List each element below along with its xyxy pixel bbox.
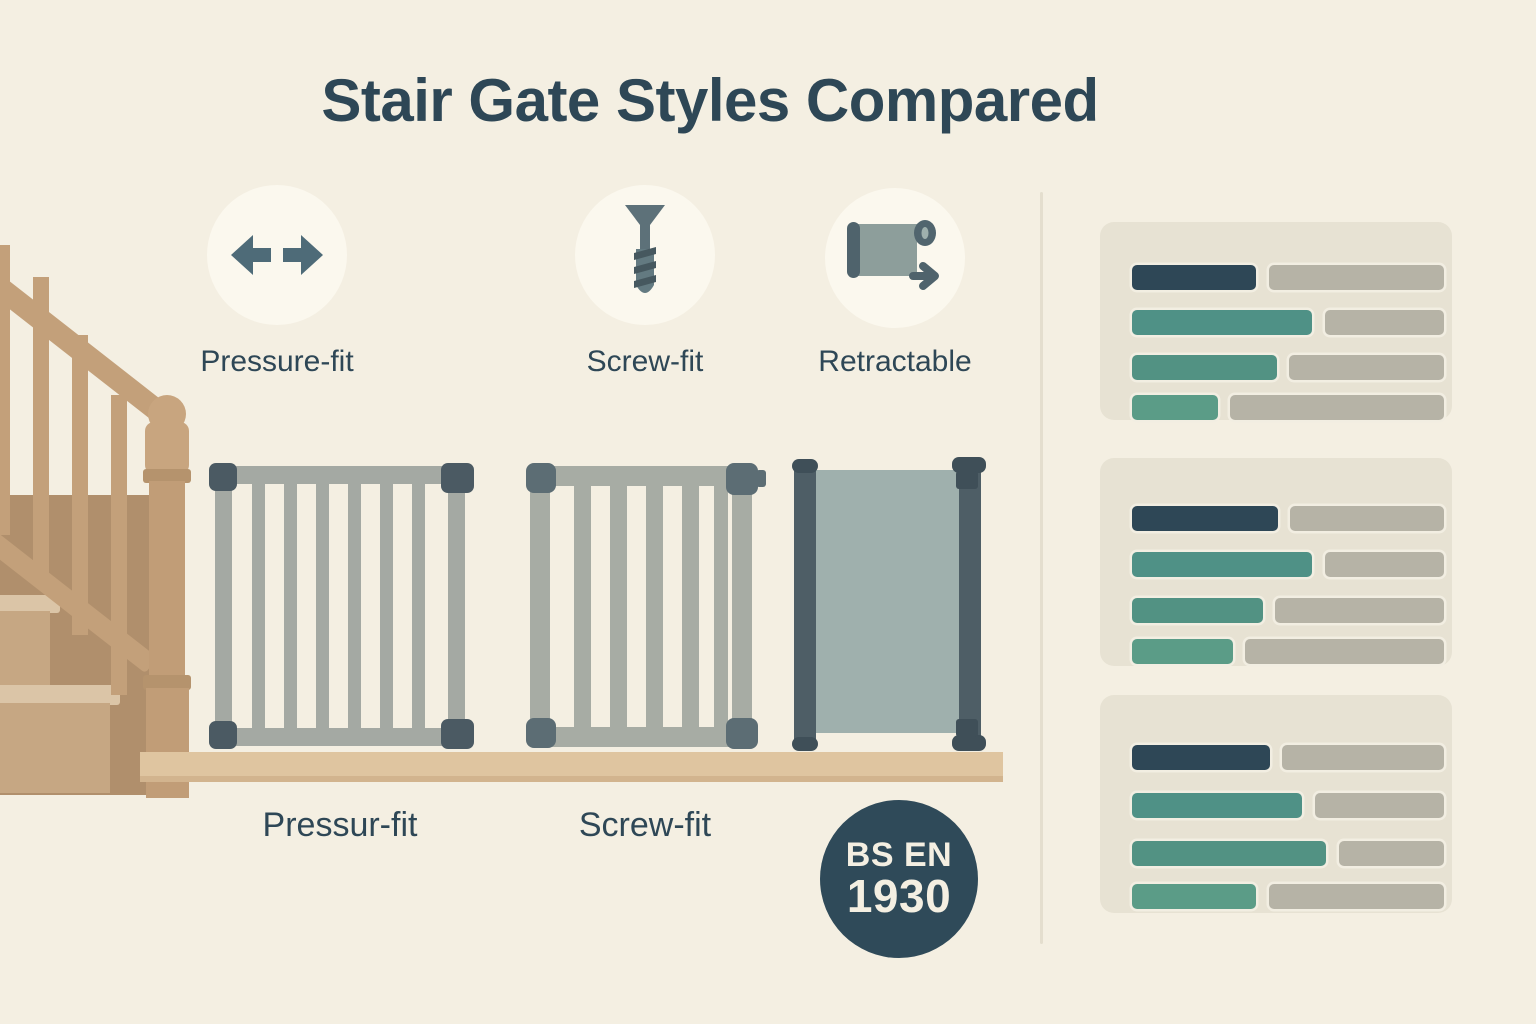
gate-pressure-fit[interactable]: [205, 462, 475, 754]
pressure-pad-top-right: [441, 463, 474, 493]
spec-row: [1132, 639, 1424, 664]
stair-riser: [0, 703, 110, 793]
gate-vertical-bar: [252, 482, 265, 730]
spec-row-key-bar: [1132, 793, 1302, 818]
pressure-pad-bottom-left: [209, 721, 237, 749]
retractable-cap-top-left: [792, 459, 818, 473]
gate-vertical-bar: [714, 484, 728, 729]
wall-bracket-top-right: [726, 463, 758, 495]
spec-row: [1132, 884, 1424, 909]
wall-bracket-bottom-left: [526, 718, 556, 748]
spec-row-value-bar: [1269, 884, 1444, 909]
section-divider: [1040, 192, 1043, 944]
gate-vertical-bar: [380, 482, 393, 730]
spec-row-value-bar: [1269, 265, 1444, 290]
gate-right-stile: [732, 466, 752, 747]
gate-latch-nub[interactable]: [756, 470, 766, 487]
page-title: Stair Gate Styles Compared: [0, 66, 1420, 135]
badge-standard-number: 1930: [847, 872, 951, 920]
gate-right-stile: [448, 466, 465, 746]
spec-row-key-bar: [1132, 552, 1312, 577]
spec-row-key-bar: [1132, 395, 1218, 420]
stair-baluster: [72, 335, 88, 635]
gate-vertical-bar: [412, 482, 425, 730]
gate-left-stile: [215, 466, 232, 746]
retractable-post-right: [959, 463, 981, 747]
screw-icon: [617, 199, 673, 311]
gate-vertical-bar: [316, 482, 329, 730]
retractable-mesh-roll-icon: [839, 210, 951, 306]
spec-row: [1132, 265, 1424, 290]
spec-row: [1132, 395, 1424, 420]
spec-card[interactable]: [1100, 695, 1452, 913]
newel-neck: [145, 422, 189, 474]
spec-row-value-bar: [1339, 841, 1444, 866]
pressure-pad-top-left: [209, 463, 237, 491]
spec-row: [1132, 745, 1424, 770]
retractable-post-left: [794, 463, 816, 747]
spec-row-value-bar: [1325, 310, 1444, 335]
spec-row: [1132, 841, 1424, 866]
stair-tread: [0, 685, 120, 705]
newel-shaft: [149, 481, 185, 681]
spec-row-value-bar: [1289, 355, 1444, 380]
standard-badge: BS EN 1930: [820, 800, 978, 958]
legend-item-retractable[interactable]: Retractable: [825, 188, 965, 398]
spec-row-value-bar: [1325, 552, 1444, 577]
gate-vertical-bar: [610, 484, 627, 729]
stair-baluster: [0, 245, 10, 535]
legend-circle-screw-fit: [575, 185, 715, 325]
spec-row-value-bar: [1275, 598, 1444, 623]
spec-row-key-bar: [1132, 310, 1312, 335]
legend-circle-pressure-fit: [207, 185, 347, 325]
wall-bracket-top-left: [526, 463, 556, 493]
stair-baluster: [111, 395, 127, 695]
spec-row: [1132, 793, 1424, 818]
gate-vertical-bar: [574, 484, 591, 729]
gate-top-rail: [530, 466, 752, 486]
staircase-illustration: [0, 255, 210, 790]
gate-retractable[interactable]: [784, 453, 990, 754]
retractable-bracket-bottom-right: [956, 719, 978, 737]
gate-vertical-bar: [284, 482, 297, 730]
gate-left-stile: [530, 466, 550, 747]
spec-row-value-bar: [1315, 793, 1444, 818]
spec-card[interactable]: [1100, 458, 1452, 666]
spec-row-key-bar: [1132, 506, 1278, 531]
stair-riser: [0, 611, 50, 689]
wall-bracket-bottom-right: [726, 718, 758, 749]
pressure-pad-bottom-right: [441, 719, 474, 749]
spec-row: [1132, 310, 1424, 335]
retractable-cap-bottom-right: [952, 735, 986, 751]
spec-row-key-bar: [1132, 639, 1233, 664]
legend-item-pressure-fit[interactable]: Pressure-fit: [207, 185, 347, 395]
spec-row-key-bar: [1132, 265, 1256, 290]
stair-baluster: [33, 277, 49, 577]
spec-card[interactable]: [1100, 222, 1452, 420]
retractable-bracket-top-right: [956, 471, 978, 489]
spec-row: [1132, 355, 1424, 380]
gate-vertical-bar: [646, 484, 663, 729]
double-arrow-horizontal-icon: [227, 227, 327, 283]
spec-row-key-bar: [1132, 841, 1326, 866]
gate-screw-fit[interactable]: [518, 462, 760, 754]
spec-row: [1132, 506, 1424, 531]
spec-row-value-bar: [1245, 639, 1444, 664]
stair-newel-post: [140, 395, 192, 795]
floor-strip: [140, 752, 1003, 782]
gate-bottom-rail: [530, 727, 752, 747]
legend-label-retractable: Retractable: [797, 345, 993, 379]
spec-row: [1132, 598, 1424, 623]
spec-row-value-bar: [1230, 395, 1444, 420]
badge-standard-prefix: BS EN: [846, 838, 952, 872]
legend-circle-retractable: [825, 188, 965, 328]
gate-vertical-bar: [348, 482, 361, 730]
legend-label-screw-fit: Screw-fit: [552, 345, 738, 379]
legend-item-screw-fit[interactable]: Screw-fit: [575, 185, 715, 395]
gate-caption-pressure-fit: Pressur-fit: [190, 806, 490, 845]
spec-row-value-bar: [1290, 506, 1444, 531]
retractable-mesh-panel: [816, 470, 966, 733]
gate-vertical-bar: [682, 484, 699, 729]
gate-bottom-rail: [215, 728, 465, 746]
gate-caption-screw-fit: Screw-fit: [510, 806, 780, 845]
spec-row-key-bar: [1132, 598, 1263, 623]
spec-row-key-bar: [1132, 355, 1277, 380]
spec-row-value-bar: [1282, 745, 1444, 770]
spec-row: [1132, 552, 1424, 577]
spec-row-key-bar: [1132, 884, 1256, 909]
retractable-cap-bottom-left: [792, 737, 818, 751]
spec-row-key-bar: [1132, 745, 1270, 770]
